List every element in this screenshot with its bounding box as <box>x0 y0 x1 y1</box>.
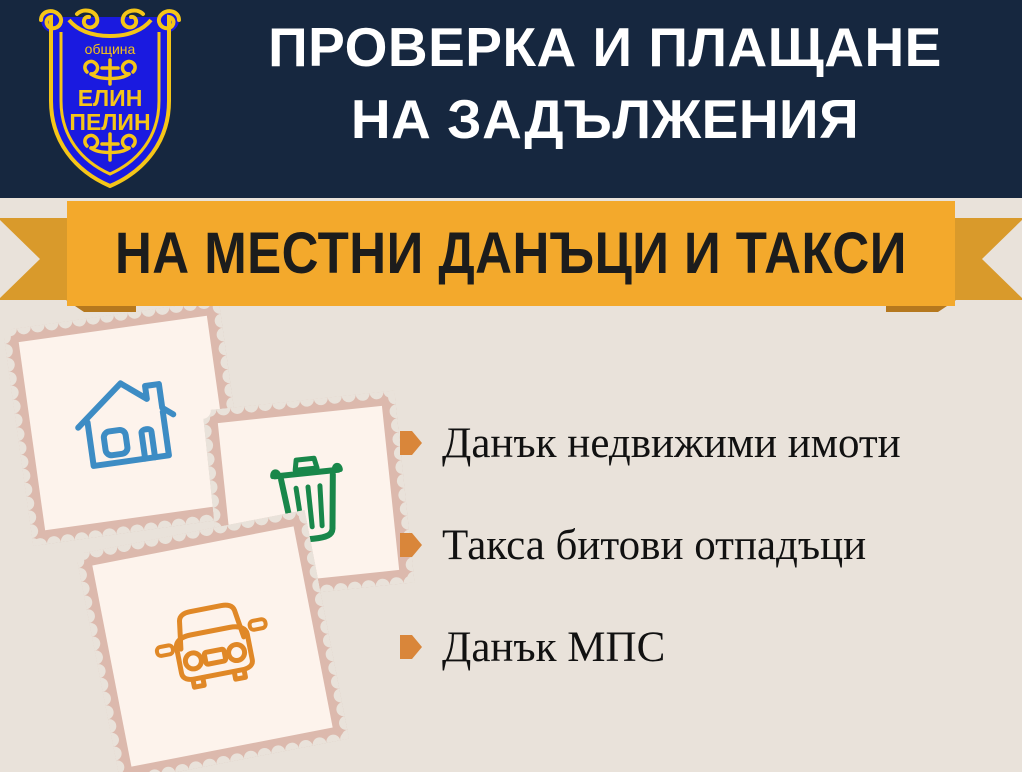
ribbon-banner: НА МЕСТНИ ДАНЪЦИ И ТАКСИ <box>0 196 1022 314</box>
ribbon-panel: НА МЕСТНИ ДАНЪЦИ И ТАКСИ <box>67 201 955 306</box>
arrow-bullet-icon <box>400 635 422 661</box>
title-line-2: НА ЗАДЪЛЖЕНИЯ <box>195 86 1015 152</box>
crest-text-elin: ЕЛИН <box>78 85 143 111</box>
stamp-paper-house <box>19 316 234 531</box>
stamp-card-car <box>76 510 349 772</box>
crest-text-pelin: ПЕЛИН <box>69 109 150 135</box>
page-title: ПРОВЕРКА И ПЛАЩАНЕ НА ЗАДЪЛЖЕНИЯ <box>195 14 1015 152</box>
list-item[interactable]: Данък недвижими имоти <box>400 420 1010 468</box>
list-item[interactable]: Данък МПС <box>400 624 1010 672</box>
header-bar: община ЕЛИН ПЕЛИН ПРОВЕРКА И ПЛАЩАНЕ НА … <box>0 0 1022 198</box>
crest-text-obshtina: община <box>85 41 136 57</box>
arrow-bullet-icon <box>400 533 422 559</box>
tax-type-list: Данък недвижими имоти Такса битови отпад… <box>400 420 1010 726</box>
car-icon <box>145 590 280 703</box>
poster-root: община ЕЛИН ПЕЛИН ПРОВЕРКА И ПЛАЩАНЕ НА … <box>0 0 1022 772</box>
coat-of-arms: община ЕЛИН ПЕЛИН <box>25 6 195 191</box>
ribbon-label: НА МЕСТНИ ДАНЪЦИ И ТАКСИ <box>115 224 907 284</box>
list-item-label: Данък недвижими имоти <box>442 420 901 468</box>
list-item-label: Такса битови отпадъци <box>442 522 866 570</box>
arrow-bullet-icon <box>400 431 422 457</box>
house-icon <box>66 368 186 478</box>
list-item[interactable]: Такса битови отпадъци <box>400 522 1010 570</box>
stamp-paper-car <box>92 526 332 766</box>
list-item-label: Данък МПС <box>442 624 665 672</box>
title-line-1: ПРОВЕРКА И ПЛАЩАНЕ <box>195 14 1015 80</box>
stamp-card-group <box>0 300 420 772</box>
